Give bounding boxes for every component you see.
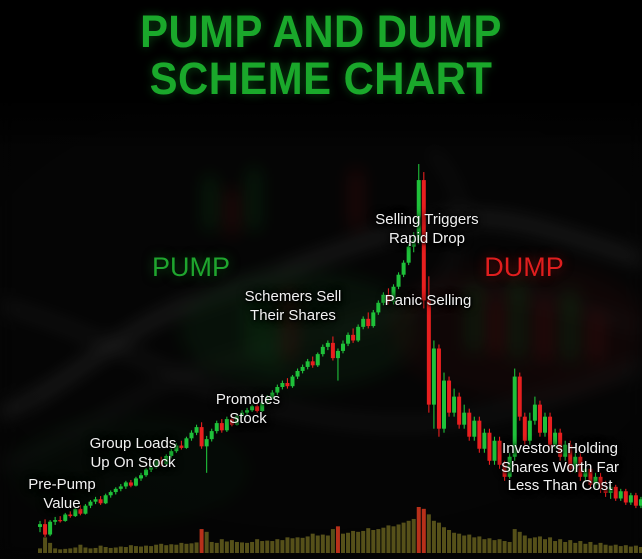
volume-bar [316,536,320,553]
volume-bar [407,521,411,553]
volume-bar [109,548,113,553]
candle-body-down [331,343,335,358]
volume-bar [291,538,295,553]
volume-bar [477,536,481,553]
candle-body-up [245,410,249,412]
volume-bar [624,545,628,553]
volume-bar [336,526,340,553]
candle-body-up [119,486,123,488]
volume-bar [94,548,98,553]
candle-body-up [452,397,456,413]
volume-bar [381,528,385,553]
volume-bar [422,509,426,553]
candle-body-up [594,477,598,485]
candle-body-down [58,520,62,521]
candle-body-up [190,433,194,439]
volume-bar [482,539,486,553]
volume-bar [225,542,229,554]
volume-bar [331,529,335,553]
candle-body-down [518,377,522,417]
candle-body-up [94,499,98,501]
volume-bar [321,535,325,553]
candle-body-down [487,433,491,461]
candle-body-up [144,470,148,476]
candle-body-up [346,335,350,344]
volume-bar [139,547,143,553]
candle-body-down [457,397,461,425]
candle-body-up [417,180,421,240]
volume-bar [503,541,507,553]
volume-bar [427,514,431,553]
candle-body-up [629,495,633,502]
volume-bar [361,531,365,553]
candle-body-up [321,347,325,354]
volume-bar [149,546,153,553]
volume-bar [346,533,350,553]
volume-bar [518,532,522,553]
volume-bar [392,526,396,553]
candle-body-down [614,487,618,499]
volume-bar [533,537,537,553]
candle-body-up [341,344,345,351]
volume-bar [154,545,158,553]
candle-body-up [493,441,497,461]
candle-body-down [78,509,82,514]
candle-body-down [604,489,608,493]
volume-bar [184,544,188,553]
candle-body-up [301,367,305,371]
candle-wick [60,516,61,522]
candle-body-up [114,489,118,492]
volume-bar [493,540,497,553]
volume-bar [250,542,254,553]
candle-body-up [124,482,128,486]
candle-body-up [472,421,476,437]
volume-bar [629,547,633,553]
candle-body-up [583,469,587,477]
candle-body-up [73,509,77,516]
candle-body-down [366,319,370,326]
candle-body-down [588,469,592,485]
candle-body-up [376,303,380,313]
volume-bar [412,519,416,553]
volume-bar [472,537,476,553]
candle-body-up [38,524,42,527]
volume-bar [129,545,133,553]
candle-body-down [179,446,183,448]
volume-bar [235,542,239,553]
volume-bar [164,545,168,553]
candle-body-down [255,406,259,411]
candle-body-up [169,451,173,456]
candle-body-up [195,427,199,433]
candle-body-up [280,383,284,387]
volume-bar [134,546,138,553]
candle-body-down [230,419,234,425]
candle-body-up [407,247,411,263]
volume-bar [599,543,603,553]
candle-body-down [548,417,552,445]
volume-bar [366,528,370,553]
candle-body-down [538,405,542,433]
volume-bar [487,538,491,553]
candle-body-up [265,397,269,402]
volume-bar [442,527,446,553]
candle-body-up [210,431,214,439]
volume-bar [432,521,436,553]
volume-bar [144,546,148,553]
volume-bar [447,530,451,553]
candle-body-down [477,421,481,449]
volume-bar [326,536,330,553]
candle-body-down [634,495,638,505]
candle-body-up [260,402,264,411]
volume-bar [124,547,128,553]
candle-body-down [503,465,507,477]
volume-bar [563,542,567,553]
candle-body-up [336,351,340,358]
volume-bar [306,536,310,553]
volume-bar [513,529,517,553]
volume-bar [568,540,572,553]
candle-body-up [240,413,244,416]
candle-body-up [462,413,466,425]
volume-bar [386,525,390,553]
volume-bar [296,537,300,553]
volume-bar [89,548,93,553]
volume-bar [190,543,194,553]
volume-bar [275,539,279,553]
volume-bar [548,537,552,553]
candle-body-up [250,406,254,410]
volume-bar [578,541,582,553]
candle-body-up [316,354,320,365]
volume-bar [588,542,592,553]
candle-body-up [291,377,295,387]
candle-body-down [599,477,603,489]
candle-body-up [275,387,279,393]
candle-body-down [220,423,224,430]
candle-body-up [392,287,396,302]
candle-body-up [184,438,188,448]
candle-body-down [498,441,502,465]
candle-body-up [134,478,138,485]
volume-bar [543,539,547,553]
volume-bar [245,543,249,553]
candle-wick [181,441,182,450]
candle-body-down [427,300,431,404]
volume-bar [402,523,406,553]
candle-body-down [467,413,471,437]
volume-bar [538,536,542,553]
volume-bar [397,524,401,553]
candle-body-up [225,419,229,430]
candle-body-down [200,427,204,446]
volume-bar [341,534,345,553]
candle-body-up [104,495,108,503]
volume-bar [83,547,87,553]
volume-bar [301,538,305,553]
candle-body-up [442,381,446,429]
volume-bar [230,540,234,553]
volume-bar [467,535,471,553]
candle-body-up [371,312,375,326]
candle-body-up [270,393,274,398]
volume-bar [604,545,608,553]
candle-body-down [351,335,355,341]
volume-bar [195,542,199,553]
volume-bar [48,543,52,553]
candle-body-up [412,240,416,246]
candle-body-down [159,461,163,464]
candle-body-down [624,491,628,502]
volume-bar [270,541,274,553]
candle-body-down [129,482,133,485]
volume-bar [614,545,618,553]
volume-bar [498,539,502,553]
candle-body-down [68,515,72,517]
candle-body-up [306,361,310,367]
pump-and-dump-infographic: PUMP AND DUMP SCHEME CHART PUMPDUMPPre-P… [0,0,642,559]
volume-bar [371,530,375,553]
volume-bar [417,507,421,553]
volume-bar [255,539,259,553]
volume-bar [215,543,219,553]
candle-body-up [573,457,577,469]
volume-bar [609,546,613,553]
candle-body-up [528,421,532,441]
volume-bar [73,547,77,553]
volume-bar [38,548,42,553]
volume-bar [63,549,67,553]
candle-body-up [164,456,168,464]
volume-bar [452,533,456,553]
volume-bar [43,537,47,553]
candle-body-down [386,295,390,302]
volume-bar [457,534,461,553]
volume-bar [260,541,264,553]
volume-bar [508,542,512,553]
volume-bar [311,534,315,553]
volume-bar [58,549,62,553]
volume-bar [99,546,103,553]
volume-bar [68,548,72,553]
volume-bar [179,543,183,553]
candle-body-down [437,349,441,429]
candle-wick [605,481,606,497]
candle-body-up [619,491,623,498]
volume-bar [220,539,224,553]
volume-bars [38,507,642,553]
candle-body-up [235,416,239,425]
volume-bar [583,544,587,553]
candle-body-up [83,506,87,514]
candle-body-up [109,492,113,495]
candle-body-up [149,467,153,469]
volume-bar [240,542,244,553]
candle-body-down [311,361,315,365]
price-candles [38,164,642,537]
candle-body-up [326,343,330,347]
candle-body-up [53,520,57,522]
volume-bar [523,536,527,553]
candle-body-up [63,515,67,521]
candle-body-down [568,445,572,469]
volume-bar [280,540,284,553]
volume-bar [114,547,118,553]
candle-body-up [356,327,360,341]
candle-body-down [422,180,426,300]
volume-bar [265,541,269,553]
candle-body-up [508,457,512,477]
volume-bar [119,547,123,553]
volume-bar [634,546,638,553]
candle-body-up [533,405,537,421]
candle-body-up [482,433,486,449]
candle-body-up [154,461,158,467]
volume-bar [210,542,214,553]
candle-body-down [99,499,103,503]
candle-body-up [296,371,300,377]
volume-bar [356,532,360,553]
candle-body-up [139,475,143,478]
candle-body-up [361,319,365,327]
candle-body-down [523,417,527,441]
candle-body-up [48,522,52,535]
candle-body-up [205,439,209,446]
candlestick-chart [0,0,642,559]
candle-body-up [543,417,547,433]
volume-bar [351,531,355,553]
volume-bar [594,545,598,553]
volume-bar [104,547,108,553]
candle-body-up [89,502,93,506]
candle-body-up [563,445,567,457]
volume-bar [159,544,163,553]
volume-bar [169,544,173,553]
volume-bar [573,543,577,553]
volume-bar [285,537,289,553]
candle-body-down [578,457,582,477]
volume-bar [53,548,57,553]
candle-body-up [215,423,219,431]
volume-bar [78,545,82,553]
candle-body-down [43,524,47,534]
volume-bar [558,539,562,553]
candle-body-up [513,377,517,457]
volume-bar [200,529,204,553]
volume-bar [553,541,557,553]
candle-body-down [558,433,562,457]
volume-bar [376,529,380,553]
candle-body-up [609,487,613,493]
volume-bar [174,545,178,553]
candle-body-up [174,446,178,452]
candle-body-up [397,275,401,287]
candle-body-up [402,263,406,275]
candle-body-up [553,433,557,445]
candle-body-down [447,381,451,413]
volume-bar [528,538,532,553]
volume-bar [437,523,441,553]
candle-body-up [381,295,385,303]
candle-body-up [432,349,436,405]
candle-body-down [285,383,289,386]
volume-bar [205,532,209,553]
volume-bar [462,536,466,553]
volume-bar [619,546,623,553]
